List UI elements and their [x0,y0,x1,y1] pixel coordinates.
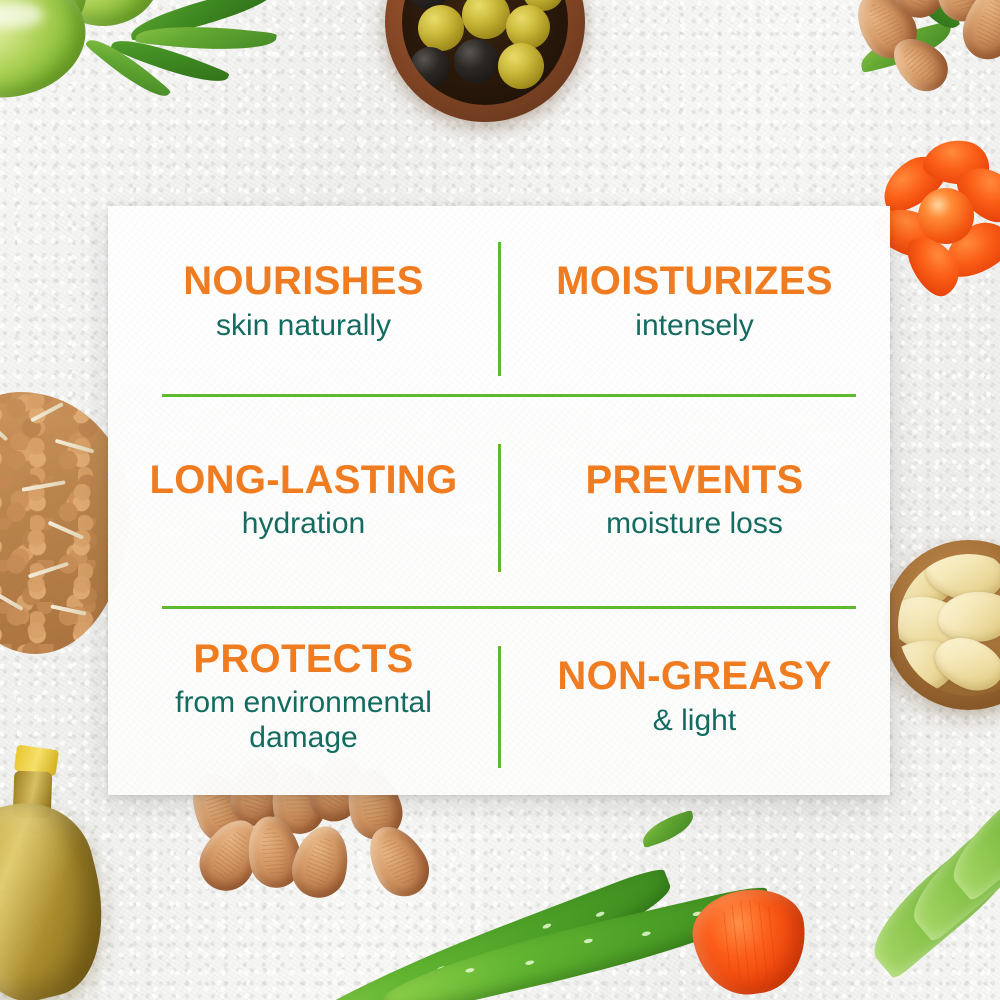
benefit-subtitle: & light [653,704,736,738]
vertical-divider-row-3 [498,646,501,768]
benefit-title: NON-GREASY [557,656,831,698]
benefit-item-long-lasting: LONG-LASTING hydration [108,402,499,598]
benefit-title: LONG-LASTING [149,460,457,502]
benefit-title: PROTECTS [193,639,413,681]
benefit-title: PREVENTS [585,460,803,502]
benefit-subtitle: moisture loss [606,507,783,541]
benefit-item-non-greasy: NON-GREASY & light [499,599,890,795]
benefit-subtitle: intensely [635,309,753,343]
benefit-title: MOISTURIZES [556,261,833,303]
benefit-item-nourishes: NOURISHES skin naturally [108,206,499,402]
benefit-subtitle: from environmental damage [139,686,469,754]
benefit-subtitle: hydration [242,507,365,541]
vertical-divider-row-2 [498,444,501,572]
horizontal-divider-1 [162,394,856,397]
benefit-item-protects: PROTECTS from environmental damage [108,599,499,795]
product-benefits-graphic: NOURISHES skin naturally MOISTURIZES int… [0,0,1000,1000]
benefit-item-prevents: PREVENTS moisture loss [499,402,890,598]
benefits-card: NOURISHES skin naturally MOISTURIZES int… [108,206,890,795]
benefit-item-moisturizes: MOISTURIZES intensely [499,206,890,402]
vertical-divider-row-1 [498,242,501,376]
horizontal-divider-2 [162,606,856,609]
benefit-subtitle: skin naturally [216,309,391,343]
benefit-title: NOURISHES [183,261,424,303]
